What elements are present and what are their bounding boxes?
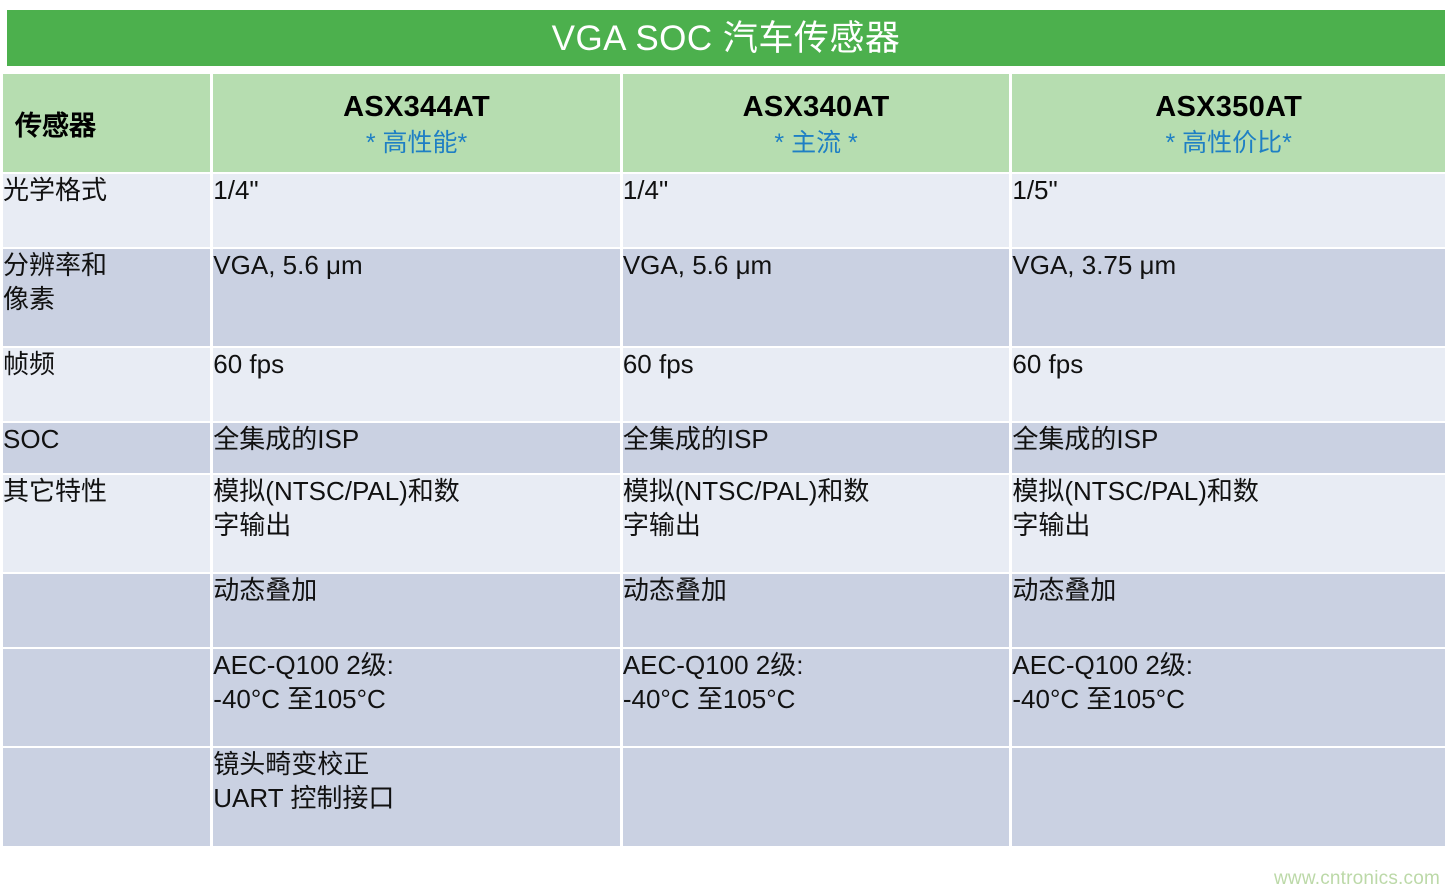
row-label-resolution-pixel: 分辨率和 像素 [3, 249, 210, 346]
row-label-blank-3 [3, 748, 210, 846]
cell-other-features-asx350at: 模拟(NTSC/PAL)和数 字输出 [1012, 475, 1445, 572]
row-label-optical-format: 光学格式 [3, 174, 210, 247]
slide-title: VGA SOC 汽车传感器 [552, 21, 901, 56]
cell-lens-correction-asx344at: 镜头畸变校正 UART 控制接口 [213, 748, 620, 846]
row-label-blank-1 [3, 574, 210, 647]
table-row: 其它特性 模拟(NTSC/PAL)和数 字输出 模拟(NTSC/PAL)和数 字… [3, 475, 1445, 572]
cell-resolution-asx340at: VGA, 5.6 μm [623, 249, 1010, 346]
slide-canvas: VGA SOC 汽车传感器 传感器 ASX344AT * 高性能* [0, 0, 1448, 894]
header-cell-asx340at: ASX340AT * 主流 * [623, 74, 1010, 172]
cell-aec-q100-asx344at: AEC-Q100 2级: -40°C 至105°C [213, 649, 620, 746]
header-part-number-1: ASX344AT [343, 91, 490, 123]
header-cell-asx350at: ASX350AT * 高性价比* [1012, 74, 1445, 172]
header-cell-asx344at: ASX344AT * 高性能* [213, 74, 620, 172]
cell-frame-rate-asx344at: 60 fps [213, 348, 620, 421]
table-row: 动态叠加 动态叠加 动态叠加 [3, 574, 1445, 647]
header-part-number-2: ASX340AT [743, 91, 890, 123]
slide-title-bar: VGA SOC 汽车传感器 [7, 10, 1445, 66]
table-row: SOC 全集成的ISP 全集成的ISP 全集成的ISP [3, 423, 1445, 473]
header-subtitle-1: * 高性能* [366, 128, 467, 159]
cell-frame-rate-asx350at: 60 fps [1012, 348, 1445, 421]
table-row: 帧频 60 fps 60 fps 60 fps [3, 348, 1445, 421]
header-subtitle-3: * 高性价比* [1165, 128, 1291, 159]
cell-aec-q100-asx350at: AEC-Q100 2级: -40°C 至105°C [1012, 649, 1445, 746]
cell-other-features-asx344at: 模拟(NTSC/PAL)和数 字输出 [213, 475, 620, 572]
row-label-other-features: 其它特性 [3, 475, 210, 572]
header-subtitle-2: * 主流 * [774, 128, 857, 159]
cell-resolution-asx350at: VGA, 3.75 μm [1012, 249, 1445, 346]
cell-optical-format-asx344at: 1/4" [213, 174, 620, 247]
cell-soc-asx344at: 全集成的ISP [213, 423, 620, 473]
cell-frame-rate-asx340at: 60 fps [623, 348, 1010, 421]
header-part-number-3: ASX350AT [1155, 91, 1302, 123]
cell-lens-correction-asx340at [623, 748, 1010, 846]
cell-dynamic-overlay-asx340at: 动态叠加 [623, 574, 1010, 647]
row-label-soc: SOC [3, 423, 210, 473]
cell-optical-format-asx350at: 1/5" [1012, 174, 1445, 247]
row-label-blank-2 [3, 649, 210, 746]
table-row: AEC-Q100 2级: -40°C 至105°C AEC-Q100 2级: -… [3, 649, 1445, 746]
table-row: 镜头畸变校正 UART 控制接口 [3, 748, 1445, 846]
site-watermark: www.cntronics.com [1274, 868, 1440, 890]
table-row: 光学格式 1/4" 1/4" 1/5" [3, 174, 1445, 247]
cell-resolution-asx344at: VGA, 5.6 μm [213, 249, 620, 346]
cell-optical-format-asx340at: 1/4" [623, 174, 1010, 247]
cell-other-features-asx340at: 模拟(NTSC/PAL)和数 字输出 [623, 475, 1010, 572]
cell-aec-q100-asx340at: AEC-Q100 2级: -40°C 至105°C [623, 649, 1010, 746]
header-row-label: 传感器 [3, 74, 210, 172]
cell-soc-asx350at: 全集成的ISP [1012, 423, 1445, 473]
table-row: 分辨率和 像素 VGA, 5.6 μm VGA, 5.6 μm VGA, 3.7… [3, 249, 1445, 346]
cell-soc-asx340at: 全集成的ISP [623, 423, 1010, 473]
cell-dynamic-overlay-asx350at: 动态叠加 [1012, 574, 1445, 647]
sensor-comparison-table: 传感器 ASX344AT * 高性能* ASX340AT * 主流 * [0, 72, 1448, 848]
cell-dynamic-overlay-asx344at: 动态叠加 [213, 574, 620, 647]
table-header-row: 传感器 ASX344AT * 高性能* ASX340AT * 主流 * [3, 74, 1445, 172]
cell-lens-correction-asx350at [1012, 748, 1445, 846]
header-cell-row-label: 传感器 [3, 74, 210, 172]
row-label-frame-rate: 帧频 [3, 348, 210, 421]
